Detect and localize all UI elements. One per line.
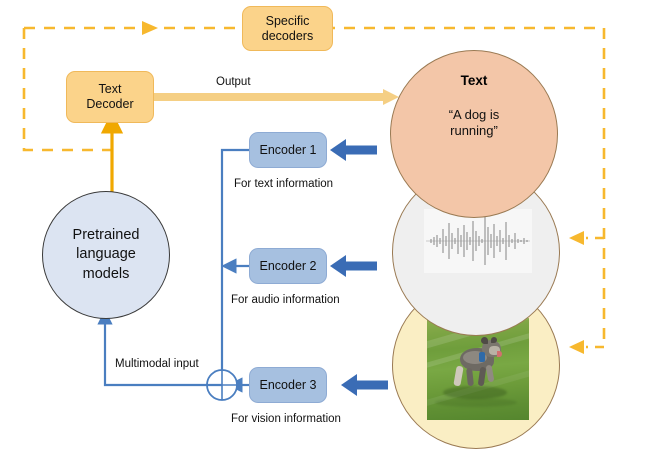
text-decoder-line1: Text	[99, 82, 122, 97]
arrow-audio-to-encoder2	[330, 255, 377, 277]
encoder-3-caption: For vision information	[231, 413, 341, 425]
dashed-branch-audio	[569, 231, 604, 245]
dashed-branch-vision	[569, 340, 604, 354]
encoder-2-label: Encoder 2	[260, 259, 317, 274]
text-decoder-line2: Decoder	[86, 97, 133, 112]
encoder-2-box[interactable]: Encoder 2	[249, 248, 327, 284]
text-circle-title: Text	[391, 73, 557, 88]
audio-waveform-icon	[424, 209, 532, 273]
encoder-2-caption: For audio information	[231, 294, 340, 306]
plm-label-line3: models	[73, 265, 140, 284]
modality-circle-text: Text “A dog is running”	[390, 50, 558, 218]
specific-decoders-line2: decoders	[262, 29, 313, 44]
pretrained-language-models-circle[interactable]: Pretrained language models	[42, 191, 170, 319]
specific-decoders-line1: Specific	[266, 14, 310, 29]
arrow-output	[153, 89, 399, 105]
encoder-1-box[interactable]: Encoder 1	[249, 132, 327, 168]
encoder-3-box[interactable]: Encoder 3	[249, 367, 327, 403]
encoder-1-caption: For text information	[234, 178, 333, 190]
diagram-canvas: Vision	[0, 0, 662, 451]
arrow-vision-to-encoder3	[341, 374, 388, 396]
specific-decoders-box[interactable]: Specific decoders	[242, 6, 333, 51]
encoder-3-label: Encoder 3	[260, 378, 317, 393]
text-circle-content: “A dog is running”	[391, 107, 557, 138]
encoder-1-label: Encoder 1	[260, 143, 317, 158]
plm-label-line2: language	[73, 245, 140, 264]
text-decoder-box[interactable]: Text Decoder	[66, 71, 154, 123]
text-circle-content-line2: running”	[391, 123, 557, 139]
plm-label: Pretrained language models	[73, 226, 140, 283]
text-circle-content-line1: “A dog is	[391, 107, 557, 123]
multimodal-input-edge-label: Multimodal input	[113, 358, 201, 370]
output-edge-label: Output	[216, 76, 251, 88]
plm-label-line1: Pretrained	[73, 226, 140, 245]
arrow-text-to-encoder1	[330, 139, 377, 161]
